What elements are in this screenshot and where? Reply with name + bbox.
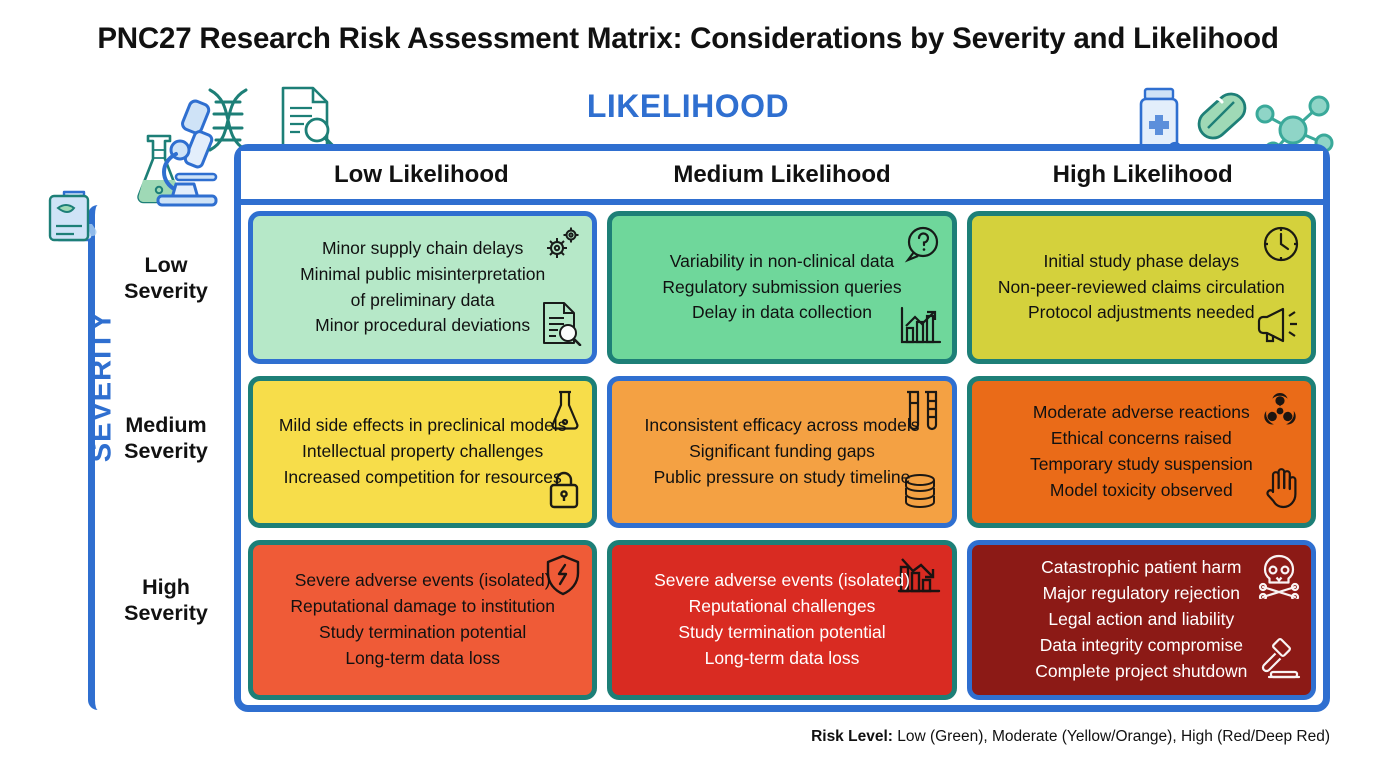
severity-row-label-low: Low Severity: [96, 253, 236, 305]
severity-medium-line2: Severity: [124, 439, 208, 463]
risk-cell-medium-severity-medium-likelihood[interactable]: Inconsistent efficacy across modelsSigni…: [607, 376, 956, 528]
risk-cell-low-severity-medium-likelihood[interactable]: Variability in non-clinical dataRegulato…: [607, 211, 956, 364]
risk-item-line: Catastrophic patient harm: [982, 555, 1301, 581]
risk-item-line: Initial study phase delays: [982, 249, 1301, 275]
column-header-medium: Medium Likelihood: [602, 151, 963, 199]
risk-item-line: Regulatory submission queries: [622, 275, 941, 301]
risk-level-legend-prefix: Risk Level:: [811, 728, 893, 745]
flask-icon: [128, 130, 190, 215]
page-title: PNC27 Research Risk Assessment Matrix: C…: [0, 22, 1376, 56]
risk-item-line: Moderate adverse reactions: [982, 400, 1301, 426]
risk-item-line: Ethical concerns raised: [982, 426, 1301, 452]
column-header-high: High Likelihood: [962, 151, 1323, 199]
risk-item-line: Complete project shutdown: [982, 659, 1301, 685]
risk-item-line: Minor procedural deviations: [263, 313, 582, 339]
severity-medium-line1: Medium: [125, 413, 206, 437]
risk-cell-high-severity-medium-likelihood[interactable]: Severe adverse events (isolated)Reputati…: [607, 540, 956, 700]
severity-row-label-high: High Severity: [96, 575, 236, 627]
risk-item-line: Study termination potential: [622, 620, 941, 646]
risk-level-legend: Risk Level: Low (Green), Moderate (Yello…: [811, 728, 1330, 746]
risk-item-line: Long-term data loss: [263, 646, 582, 672]
risk-cell-text: Minor supply chain delaysMinimal public …: [263, 236, 582, 340]
risk-cell-high-severity-low-likelihood[interactable]: Severe adverse events (isolated)Reputati…: [248, 540, 597, 700]
risk-item-line: Model toxicity observed: [982, 478, 1301, 504]
severity-high-line2: Severity: [124, 601, 208, 625]
risk-level-legend-text: Low (Green), Moderate (Yellow/Orange), H…: [893, 728, 1330, 745]
risk-item-line: Variability in non-clinical data: [622, 249, 941, 275]
risk-item-line: Study termination potential: [263, 620, 582, 646]
risk-cell-text: Mild side effects in preclinical modelsI…: [263, 413, 582, 491]
risk-item-line: Non-peer-reviewed claims circulation: [982, 275, 1301, 301]
column-header-low: Low Likelihood: [241, 151, 602, 199]
risk-item-line: Intellectual property challenges: [263, 439, 582, 465]
risk-item-line: Inconsistent efficacy across models: [622, 413, 941, 439]
risk-item-line: Delay in data collection: [622, 300, 941, 326]
risk-cell-text: Inconsistent efficacy across modelsSigni…: [622, 413, 941, 491]
risk-item-line: of preliminary data: [263, 288, 582, 314]
severity-low-line1: Low: [145, 253, 188, 277]
risk-item-line: Protocol adjustments needed: [982, 300, 1301, 326]
risk-item-line: Mild side effects in preclinical models: [263, 413, 582, 439]
risk-item-line: Temporary study suspension: [982, 452, 1301, 478]
risk-cell-low-severity-low-likelihood[interactable]: Minor supply chain delaysMinimal public …: [248, 211, 597, 364]
risk-matrix-grid: Minor supply chain delaysMinimal public …: [248, 211, 1316, 701]
risk-cell-text: Variability in non-clinical dataRegulato…: [622, 249, 941, 327]
risk-item-line: Increased competition for resources: [263, 465, 582, 491]
risk-cell-high-severity-high-likelihood[interactable]: Catastrophic patient harmMajor regulator…: [967, 540, 1316, 700]
risk-item-line: Legal action and liability: [982, 607, 1301, 633]
severity-row-label-medium: Medium Severity: [96, 413, 236, 465]
risk-cell-text: Severe adverse events (isolated)Reputati…: [622, 568, 941, 672]
risk-cell-text: Catastrophic patient harmMajor regulator…: [982, 555, 1301, 684]
risk-item-line: Public pressure on study timeline: [622, 465, 941, 491]
risk-item-line: Minimal public misinterpretation: [263, 262, 582, 288]
risk-item-line: Major regulatory rejection: [982, 581, 1301, 607]
risk-item-line: Data integrity compromise: [982, 633, 1301, 659]
likelihood-axis-label: LIKELIHOOD: [0, 88, 1376, 125]
risk-cell-text: Moderate adverse reactionsEthical concer…: [982, 400, 1301, 504]
risk-cell-text: Severe adverse events (isolated)Reputati…: [263, 568, 582, 672]
risk-item-line: Long-term data loss: [622, 646, 941, 672]
risk-item-line: Minor supply chain delays: [263, 236, 582, 262]
risk-cell-medium-severity-low-likelihood[interactable]: Mild side effects in preclinical modelsI…: [248, 376, 597, 528]
risk-item-line: Reputational damage to institution: [263, 594, 582, 620]
severity-row-labels: Low Severity Medium Severity High Severi…: [96, 205, 236, 705]
likelihood-header-row: Low Likelihood Medium Likelihood High Li…: [241, 151, 1323, 205]
risk-cell-medium-severity-high-likelihood[interactable]: Moderate adverse reactionsEthical concer…: [967, 376, 1316, 528]
risk-item-line: Reputational challenges: [622, 594, 941, 620]
risk-item-line: Severe adverse events (isolated): [622, 568, 941, 594]
severity-low-line2: Severity: [124, 279, 208, 303]
risk-item-line: Significant funding gaps: [622, 439, 941, 465]
risk-item-line: Severe adverse events (isolated): [263, 568, 582, 594]
risk-cell-text: Initial study phase delaysNon-peer-revie…: [982, 249, 1301, 327]
risk-cell-low-severity-high-likelihood[interactable]: Initial study phase delaysNon-peer-revie…: [967, 211, 1316, 364]
severity-high-line1: High: [142, 575, 190, 599]
